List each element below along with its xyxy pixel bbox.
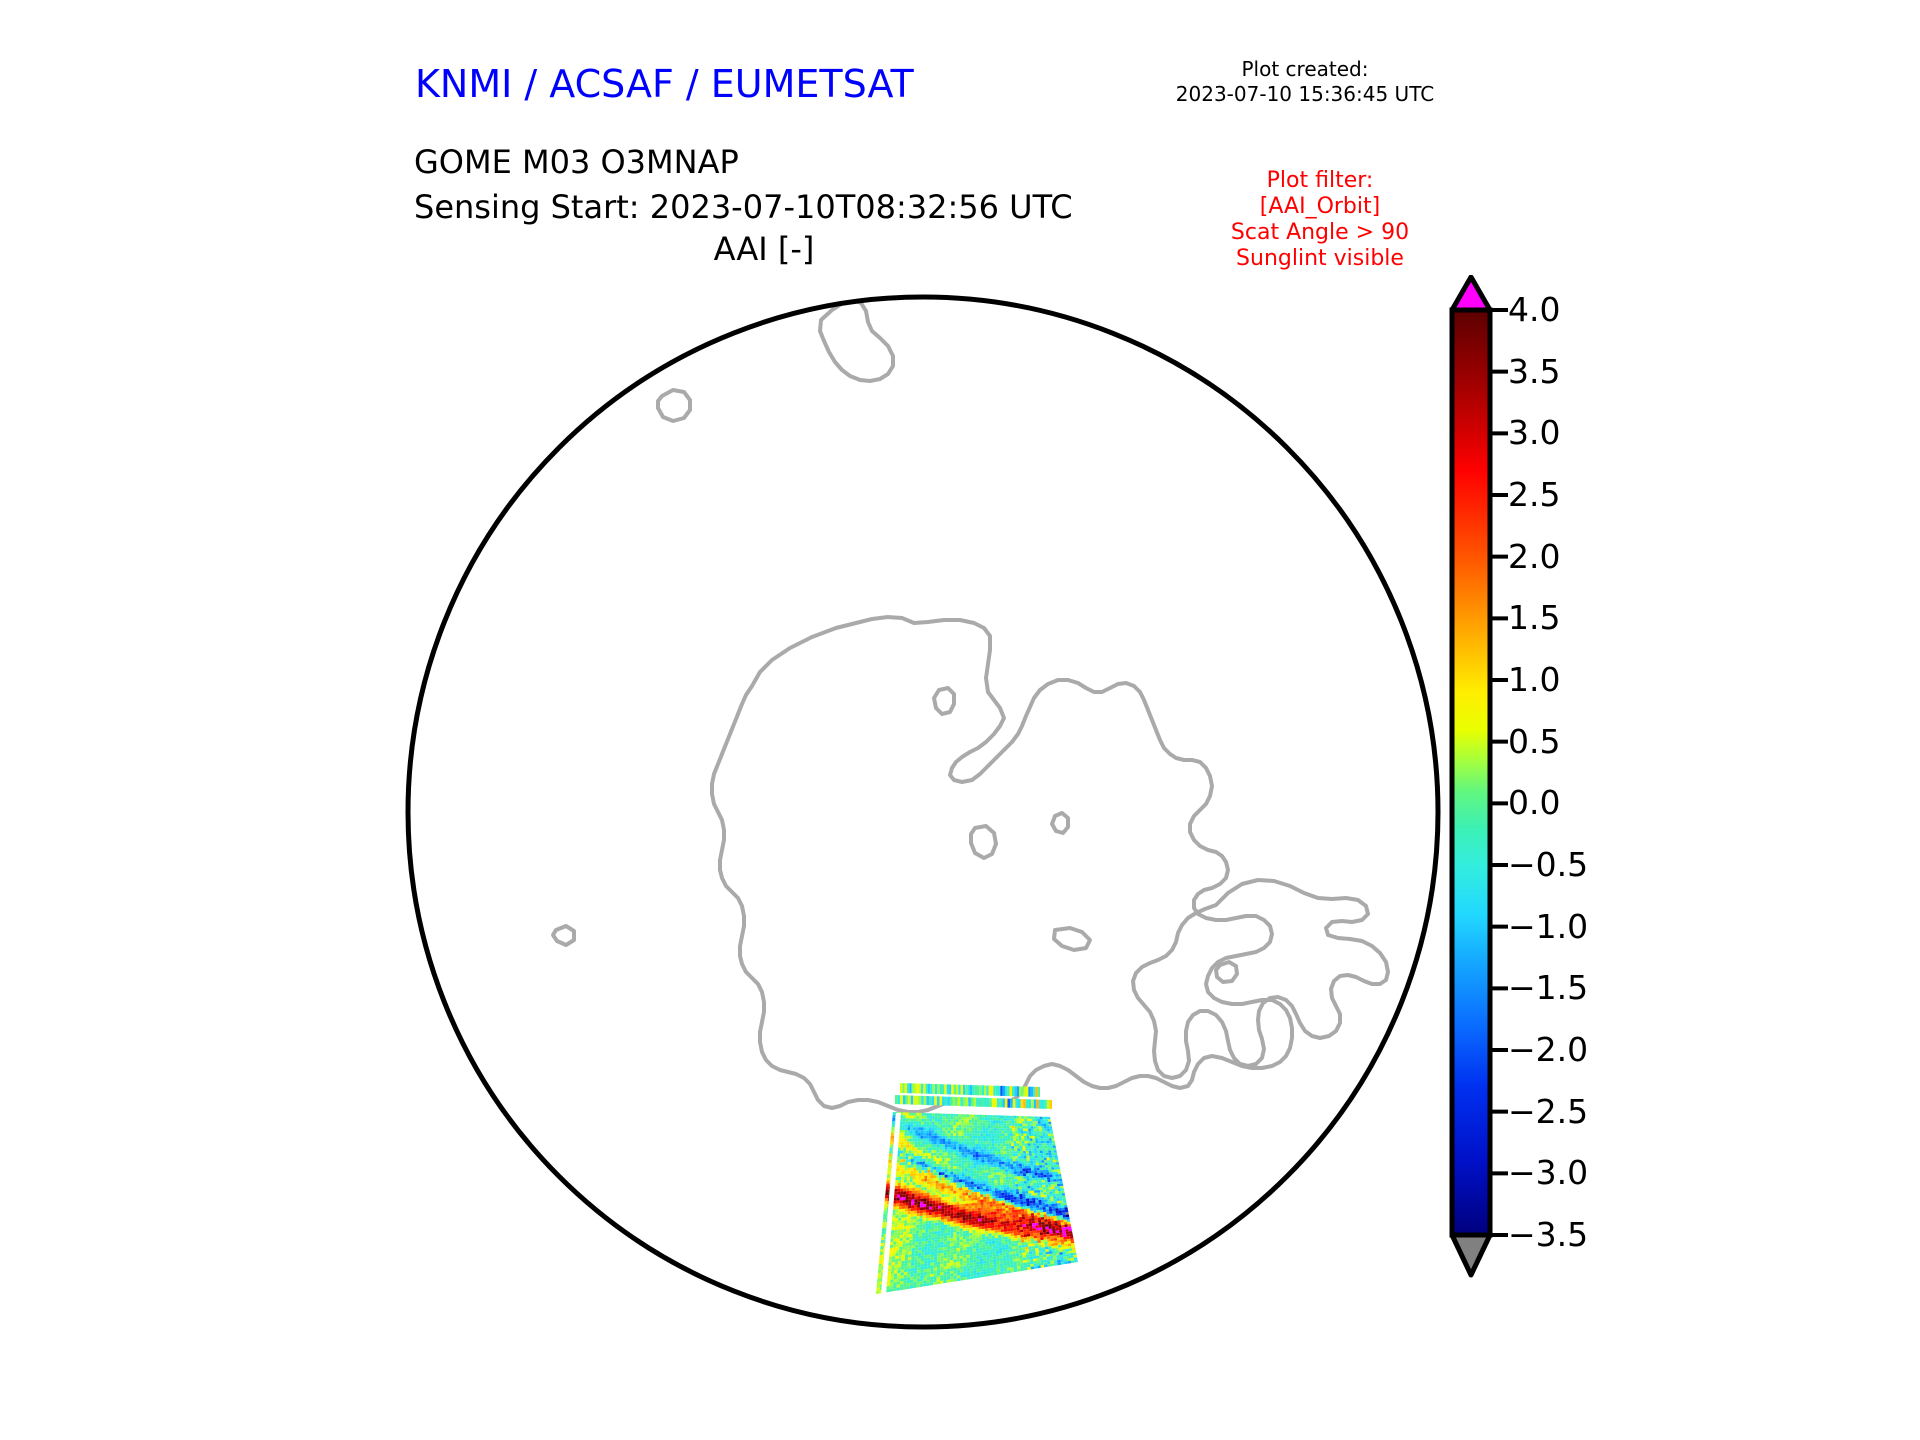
swath-pixel <box>963 1258 966 1261</box>
swath-scanline-pixel <box>912 1083 914 1093</box>
swath-pixel <box>960 1269 963 1272</box>
swath-pixel <box>892 1124 895 1127</box>
swath-pixel <box>1010 1192 1013 1195</box>
swath-pixel <box>1053 1179 1056 1182</box>
swath-pixel <box>904 1133 907 1136</box>
swath-pixel <box>933 1273 936 1276</box>
swath-pixel <box>962 1147 965 1150</box>
swath-pixel <box>1038 1243 1042 1246</box>
swath-pixel <box>936 1184 939 1187</box>
swath-pixel <box>950 1260 953 1263</box>
swath-pixel <box>913 1216 916 1219</box>
swath-pixel <box>920 1142 923 1145</box>
swath-pixel <box>1036 1163 1039 1166</box>
swath-pixel <box>957 1242 960 1245</box>
swath-pixel <box>1028 1246 1032 1249</box>
swath-pixel <box>956 1163 959 1166</box>
swath-pixel <box>906 1243 909 1246</box>
swath-pixel <box>1016 1217 1019 1220</box>
swath-pixel <box>993 1257 996 1260</box>
swath-pixel <box>1063 1256 1067 1259</box>
swath-pixel <box>1008 1197 1011 1200</box>
swath-pixel <box>1002 1164 1005 1167</box>
swath-pixel <box>890 1277 894 1280</box>
swath-scanline-pixel <box>958 1097 961 1106</box>
swath-pixel <box>899 1168 902 1171</box>
swath-pixel <box>901 1177 904 1180</box>
swath-pixel <box>1021 1184 1024 1187</box>
swath-pixel <box>942 1130 945 1133</box>
swath-pixel <box>1056 1255 1060 1258</box>
swath-pixel <box>1012 1179 1015 1182</box>
swath-pixel <box>963 1269 966 1272</box>
swath-pixel <box>977 1117 980 1120</box>
swath-pixel <box>1005 1200 1008 1203</box>
swath-pixel <box>985 1234 988 1237</box>
swath-scanline-pixel <box>926 1084 928 1094</box>
swath-pixel <box>1002 1240 1005 1243</box>
swath-pixel <box>944 1261 947 1264</box>
swath-pixel <box>1022 1245 1026 1248</box>
swath-pixel <box>985 1162 988 1165</box>
swath-pixel <box>1055 1189 1058 1192</box>
swath-pixel <box>899 1165 902 1168</box>
swath-pixel <box>892 1218 895 1221</box>
swath-pixel <box>944 1197 947 1200</box>
swath-pixel <box>1016 1192 1019 1195</box>
swath-pixel <box>931 1243 934 1246</box>
swath-pixel <box>988 1175 991 1178</box>
swath-pixel <box>929 1127 932 1130</box>
swath-pixel <box>970 1157 973 1160</box>
swath-pixel <box>1053 1258 1057 1261</box>
swath-pixel <box>1050 1143 1053 1145</box>
swath-pixel <box>1028 1124 1031 1127</box>
swath-pixel <box>901 1174 904 1177</box>
swath-pixel <box>999 1170 1002 1173</box>
swath-pixel <box>1034 1215 1037 1218</box>
swath-pixel <box>959 1163 962 1166</box>
swath-pixel <box>993 1120 996 1123</box>
swath-pixel <box>923 1198 926 1201</box>
swath-pixel <box>953 1240 956 1243</box>
swath-pixel <box>923 1280 927 1283</box>
swath-pixel <box>1001 1195 1004 1198</box>
swath-pixel <box>959 1188 962 1191</box>
swath-pixel <box>1004 1229 1007 1232</box>
swath-pixel <box>1054 1243 1058 1246</box>
swath-pixel <box>1042 1148 1045 1151</box>
swath-pixel <box>1011 1174 1014 1177</box>
swath-pixel <box>926 1130 929 1133</box>
swath-pixel <box>972 1219 975 1222</box>
swath-pixel <box>1011 1166 1014 1169</box>
swath-pixel <box>916 1165 919 1168</box>
swath-pixel <box>987 1160 990 1163</box>
swath-pixel <box>1012 1212 1015 1215</box>
swath-pixel <box>906 1197 909 1200</box>
swath-pixel <box>1049 1172 1052 1175</box>
swath-pixel <box>907 1171 910 1174</box>
swath-pixel <box>1054 1169 1057 1172</box>
swath-pixel <box>975 1208 978 1211</box>
swath-pixel <box>908 1168 911 1171</box>
swath-pixel <box>1012 1251 1016 1254</box>
swath-pixel <box>964 1152 967 1155</box>
swath-pixel <box>985 1223 988 1226</box>
swath-pixel <box>966 1239 969 1242</box>
swath-pixel <box>1018 1245 1022 1248</box>
swath-pixel <box>1050 1199 1054 1202</box>
swath-pixel <box>900 1197 903 1200</box>
swath-pixel <box>924 1190 927 1193</box>
swath-pixel <box>959 1166 962 1169</box>
swath-pixel <box>1053 1194 1057 1197</box>
swath-pixel <box>916 1176 919 1179</box>
swath-pixel <box>979 1157 982 1160</box>
swath-pixel <box>1029 1249 1033 1252</box>
swath-pixel <box>948 1177 951 1180</box>
swath-pixel <box>927 1173 930 1176</box>
swath-pixel <box>925 1235 928 1238</box>
swath-pixel <box>945 1139 948 1142</box>
swath-pixel <box>1054 1240 1058 1243</box>
swath-pixel <box>1013 1228 1016 1231</box>
swath-pixel <box>944 1250 947 1253</box>
swath-pixel <box>1041 1180 1044 1183</box>
swath-pixel <box>990 1152 993 1155</box>
swath-pixel <box>960 1248 963 1251</box>
swath-pixel <box>950 1158 953 1161</box>
swath-pixel <box>924 1263 927 1266</box>
swath-pixel <box>944 1208 947 1211</box>
swath-pixel <box>921 1187 924 1190</box>
swath-pixel <box>932 1116 935 1119</box>
swath-pixel <box>1004 1162 1007 1165</box>
swath-pixel <box>918 1193 921 1196</box>
swath-scanline-pixel <box>1010 1086 1012 1096</box>
swath-pixel <box>1049 1206 1052 1209</box>
swath-pixel <box>1030 1231 1034 1234</box>
swath-pixel <box>983 1261 987 1264</box>
swath-pixel <box>977 1179 980 1182</box>
swath-scanline-pixel <box>956 1085 958 1095</box>
swath-pixel <box>925 1246 928 1249</box>
swath-scanline-pixel <box>981 1098 984 1107</box>
swath-pixel <box>904 1269 908 1272</box>
swath-pixel <box>980 1128 983 1131</box>
swath-pixel <box>1027 1158 1030 1161</box>
swath-pixel <box>1048 1150 1051 1153</box>
swath-pixel <box>959 1185 962 1188</box>
swath-pixel <box>1012 1156 1015 1159</box>
swath-pixel <box>997 1177 1000 1180</box>
swath-pixel <box>1047 1214 1051 1217</box>
swath-pixel <box>1029 1254 1033 1257</box>
swath-pixel <box>1000 1144 1003 1147</box>
swath-pixel <box>940 1122 943 1125</box>
swath-pixel <box>905 1159 908 1162</box>
swath-pixel <box>926 1212 929 1215</box>
swath-pixel <box>959 1144 962 1147</box>
swath-pixel <box>906 1191 909 1194</box>
swath-pixel <box>1042 1165 1045 1168</box>
swath-pixel <box>1017 1144 1020 1147</box>
swath-pixel <box>1007 1128 1010 1131</box>
swath-pixel <box>1038 1158 1041 1161</box>
swath-pixel <box>1037 1235 1041 1238</box>
swath-pixel <box>926 1207 929 1210</box>
swath-pixel <box>1064 1205 1068 1208</box>
swath-pixel <box>1004 1234 1007 1237</box>
swath-pixel <box>970 1149 973 1152</box>
swath-pixel <box>1002 1198 1005 1201</box>
swath-pixel <box>1067 1256 1071 1259</box>
swath-pixel <box>926 1127 929 1130</box>
swath-scanline-pixel <box>942 1084 944 1094</box>
swath-pixel <box>920 1275 924 1278</box>
swath-pixel <box>959 1193 962 1196</box>
colorbar-tick-label: 0.5 <box>1508 725 1560 758</box>
swath-pixel <box>1036 1233 1040 1236</box>
swath-pixel <box>1041 1124 1044 1127</box>
swath-scanline-pixel <box>1010 1099 1013 1108</box>
swath-pixel <box>1042 1250 1046 1253</box>
swath-pixel <box>1021 1134 1024 1137</box>
swath-pixel <box>1054 1238 1058 1241</box>
swath-pixel <box>925 1153 928 1156</box>
swath-pixel <box>1002 1245 1005 1248</box>
swath-pixel <box>973 1249 976 1252</box>
swath-pixel <box>969 1236 972 1239</box>
swath-pixel <box>933 1189 936 1192</box>
swath-pixel <box>948 1175 951 1178</box>
swath-pixel <box>904 1183 907 1186</box>
swath-pixel <box>970 1249 973 1252</box>
swath-pixel <box>969 1214 972 1217</box>
swath-pixel <box>898 1258 902 1261</box>
swath-pixel <box>1007 1126 1010 1129</box>
swath-pixel <box>932 1212 935 1215</box>
swath-pixel <box>912 1239 915 1242</box>
colorbar-tick-labels: 4.03.53.02.52.01.51.00.50.0−0.5−1.0−1.5−… <box>1508 275 1708 1315</box>
swath-pixel <box>910 1174 913 1177</box>
swath-pixel <box>973 1243 976 1246</box>
swath-pixel <box>929 1209 932 1212</box>
swath-pixel <box>928 1156 931 1159</box>
swath-pixel <box>925 1167 928 1170</box>
swath-pixel <box>970 1163 973 1166</box>
swath-pixel <box>898 1177 901 1180</box>
swath-scanline-pixel <box>937 1084 939 1094</box>
swath-pixel <box>987 1204 990 1207</box>
swath-pixel <box>973 1171 976 1174</box>
swath-pixel <box>1031 1213 1035 1216</box>
swath-pixel <box>930 1271 933 1274</box>
swath-scanline-pixel <box>1024 1087 1026 1097</box>
swath-pixel <box>894 1233 897 1236</box>
swath-pixel <box>1044 1126 1047 1128</box>
swath-pixel <box>934 1130 937 1133</box>
swath-pixel <box>1058 1191 1062 1194</box>
swath-pixel <box>997 1183 1000 1186</box>
swath-pixel <box>909 1237 912 1240</box>
swath-pixel <box>1036 1124 1039 1127</box>
swath-pixel <box>924 1181 927 1184</box>
swath-pixel <box>974 1176 977 1179</box>
swath-pixel <box>947 1249 950 1252</box>
swath-pixel <box>982 1226 985 1229</box>
swath-pixel <box>945 1172 948 1175</box>
swath-pixel <box>993 1206 996 1209</box>
swath-pixel <box>1046 1172 1049 1175</box>
swath-pixel <box>1030 1161 1033 1164</box>
swath-pixel <box>953 1130 956 1133</box>
swath-pixel <box>969 1131 972 1134</box>
swath-pixel <box>904 1220 907 1223</box>
swath-pixel <box>939 1147 942 1150</box>
swath-pixel <box>886 1183 889 1186</box>
swath-pixel <box>924 1127 927 1130</box>
swath-pixel <box>1011 1121 1014 1124</box>
swath-pixel <box>938 1220 941 1223</box>
swath-pixel <box>978 1152 981 1155</box>
swath-pixel <box>937 1144 940 1147</box>
swath-pixel <box>1046 1136 1049 1138</box>
swath-pixel <box>1052 1251 1056 1254</box>
swath-pixel <box>998 1123 1001 1126</box>
swath-pixel <box>1026 1196 1029 1199</box>
swath-pixel <box>1019 1166 1022 1169</box>
swath-pixel <box>1004 1195 1007 1198</box>
swath-pixel <box>918 1136 921 1139</box>
swath-pixel <box>935 1113 938 1116</box>
swath-pixel <box>918 1241 921 1244</box>
swath-pixel <box>960 1231 963 1234</box>
swath-pixel <box>896 1203 899 1206</box>
swath-pixel <box>984 1160 987 1163</box>
swath-pixel <box>937 1116 940 1119</box>
swath-pixel <box>947 1180 950 1183</box>
swath-pixel <box>902 1171 905 1174</box>
swath-pixel <box>988 1225 991 1228</box>
swath-pixel <box>938 1217 941 1220</box>
swath-pixel <box>915 1133 918 1136</box>
swath-pixel <box>1006 1180 1009 1183</box>
swath-pixel <box>916 1121 919 1124</box>
swath-pixel <box>1027 1236 1031 1239</box>
swath-pixel <box>1046 1170 1049 1173</box>
swath-pixel <box>953 1226 956 1229</box>
swath-pixel <box>901 1226 904 1229</box>
swath-pixel <box>1031 1238 1035 1241</box>
swath-pixel <box>971 1187 974 1190</box>
swath-pixel <box>1028 1216 1031 1219</box>
swath-pixel <box>1047 1175 1050 1178</box>
swath-pixel <box>1033 1141 1036 1144</box>
swath-pixel <box>960 1215 963 1218</box>
swath-pixel <box>907 1271 911 1274</box>
swath-pixel <box>906 1231 909 1234</box>
swath-pixel <box>968 1192 971 1195</box>
swath-pixel <box>1029 1116 1032 1119</box>
swath-pixel <box>948 1172 951 1175</box>
swath-pixel <box>932 1201 935 1204</box>
swath-pixel <box>1035 1138 1038 1141</box>
swath-pixel <box>934 1153 937 1156</box>
swath-pixel <box>975 1149 978 1152</box>
swath-pixel <box>922 1238 925 1241</box>
swath-pixel <box>912 1236 915 1239</box>
swath-pixel <box>1013 1223 1016 1226</box>
swath-pixel <box>970 1252 973 1255</box>
swath-scanline-pixel <box>902 1083 904 1093</box>
swath-pixel <box>984 1144 987 1147</box>
swath-pixel <box>972 1139 975 1142</box>
swath-pixel <box>963 1223 966 1226</box>
swath-pixel <box>944 1258 947 1261</box>
swath-pixel <box>965 1201 968 1204</box>
swath-pixel <box>950 1174 953 1177</box>
swath-pixel <box>1059 1210 1063 1213</box>
swath-pixel <box>1003 1258 1007 1261</box>
swath-pixel <box>993 1167 996 1170</box>
swath-pixel <box>891 1130 894 1133</box>
swath-pixel <box>891 1274 895 1278</box>
swath-pixel <box>936 1156 939 1159</box>
swath-pixel <box>996 1123 999 1126</box>
swath-pixel <box>923 1278 927 1281</box>
swath-pixel <box>903 1151 906 1154</box>
swath-pixel <box>1009 1149 1012 1152</box>
swath-pixel <box>950 1210 953 1213</box>
swath-pixel <box>919 1167 922 1170</box>
swath-pixel <box>943 1116 946 1119</box>
swath-pixel <box>935 1195 938 1198</box>
swath-pixel <box>897 1162 900 1165</box>
swath-pixel <box>1047 1261 1051 1264</box>
swath-pixel <box>1042 1247 1046 1250</box>
swath-pixel <box>1069 1234 1073 1237</box>
swath-pixel <box>948 1141 951 1144</box>
swath-pixel <box>948 1139 951 1142</box>
swath-pixel <box>1054 1199 1057 1202</box>
swath-pixel <box>1032 1119 1035 1122</box>
swath-pixel <box>927 1113 930 1116</box>
swath-pixel <box>1025 1163 1028 1166</box>
swath-pixel <box>968 1176 971 1179</box>
swath-pixel <box>941 1236 944 1239</box>
swath-pixel <box>1049 1141 1052 1143</box>
swath-pixel <box>1040 1170 1043 1173</box>
swath-pixel <box>994 1225 997 1228</box>
swath-pixel <box>990 1262 993 1265</box>
swath-pixel <box>961 1117 964 1120</box>
swath-pixel <box>897 1195 900 1198</box>
swath-pixel <box>1009 1215 1012 1218</box>
swath-pixel <box>1002 1208 1005 1211</box>
swath-pixel <box>1042 1207 1046 1210</box>
swath-pixel <box>994 1172 997 1175</box>
swath-pixel <box>989 1194 992 1197</box>
swath-pixel <box>995 1152 998 1155</box>
swath-pixel <box>1021 1207 1024 1210</box>
swath-pixel <box>917 1210 920 1213</box>
swath-pixel <box>938 1211 941 1214</box>
swath-pixel <box>1050 1179 1053 1182</box>
swath-pixel <box>901 1267 905 1270</box>
swath-pixel <box>920 1156 923 1159</box>
